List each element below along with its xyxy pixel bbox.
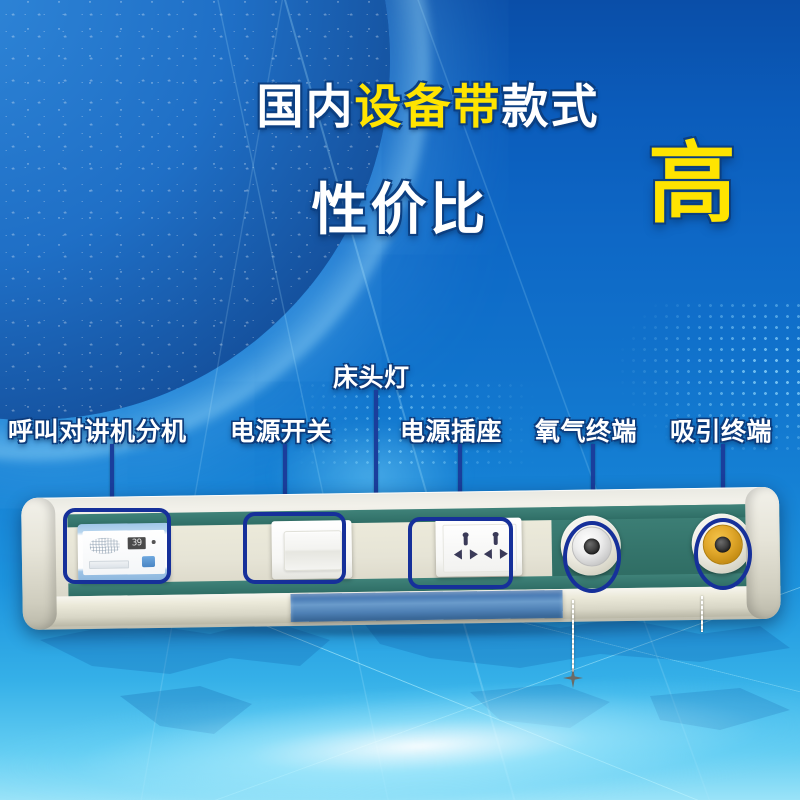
suction-terminal-unit[interactable] — [691, 513, 752, 574]
socket-faceplate — [442, 524, 517, 573]
socket-pin-left — [454, 549, 462, 559]
power-socket-unit[interactable] — [435, 518, 522, 577]
speaker-grille-icon — [90, 538, 120, 554]
callout-power-switch: 电源开关 — [230, 412, 332, 448]
oxygen-pull-cord[interactable] — [572, 600, 574, 672]
bed-head-unit-photo: 39 — [0, 490, 800, 650]
nurse-call-intercom-unit[interactable]: 39 — [77, 523, 170, 582]
intercom-call-button[interactable] — [142, 556, 155, 567]
headline-line-1: 国内设备带款式 — [0, 82, 800, 132]
switch-rocker[interactable] — [284, 530, 343, 571]
oxygen-terminal-unit[interactable] — [560, 515, 621, 576]
status-led-icon — [152, 540, 156, 544]
socket-pin-right — [500, 549, 508, 559]
panel-body: 39 — [21, 487, 781, 630]
socket-pin-left — [484, 549, 492, 559]
oxygen-cord-tip-icon — [563, 668, 583, 688]
headline-part-2: 设备带 — [355, 80, 502, 133]
intercom-faceplate: 39 — [83, 530, 166, 575]
callout-intercom: 呼叫对讲机分机 — [8, 412, 187, 448]
suction-pull-cord[interactable] — [701, 596, 703, 632]
headline-part-1: 国内 — [257, 80, 355, 133]
callout-bed-light: 床头灯 — [333, 358, 410, 394]
bed-head-light-diffuser[interactable] — [290, 590, 562, 622]
suction-terminal-port[interactable] — [715, 536, 731, 552]
callout-power-socket: 电源插座 — [400, 412, 502, 448]
headline-part-3: 款式 — [502, 80, 600, 133]
panel-end-cap-right — [745, 487, 781, 619]
panel-end-cap-left — [21, 498, 57, 630]
socket-pin-right — [470, 549, 478, 559]
oxygen-terminal-port[interactable] — [584, 538, 600, 554]
socket-outlet-2[interactable] — [482, 534, 510, 562]
power-switch-unit[interactable] — [271, 520, 352, 579]
callout-oxygen-terminal: 氧气终端 — [535, 412, 637, 448]
panel-drop-shadow — [34, 630, 764, 648]
socket-pin-top — [464, 534, 468, 545]
socket-pin-top — [494, 534, 498, 545]
callout-suction-terminal: 吸引终端 — [670, 412, 772, 448]
headline-value-text: 性价比 — [312, 178, 489, 241]
socket-outlet-1[interactable] — [452, 534, 480, 562]
intercom-display: 39 — [128, 537, 146, 549]
intercom-slot — [89, 560, 129, 569]
poster-canvas: 国内设备带款式 性价比 高 呼叫对讲机分机 电源开关 床头灯 电源插座 氧气终端… — [0, 0, 800, 800]
headline-accent-gao: 高 — [648, 140, 736, 228]
bed-head-panel: 39 — [21, 487, 781, 630]
